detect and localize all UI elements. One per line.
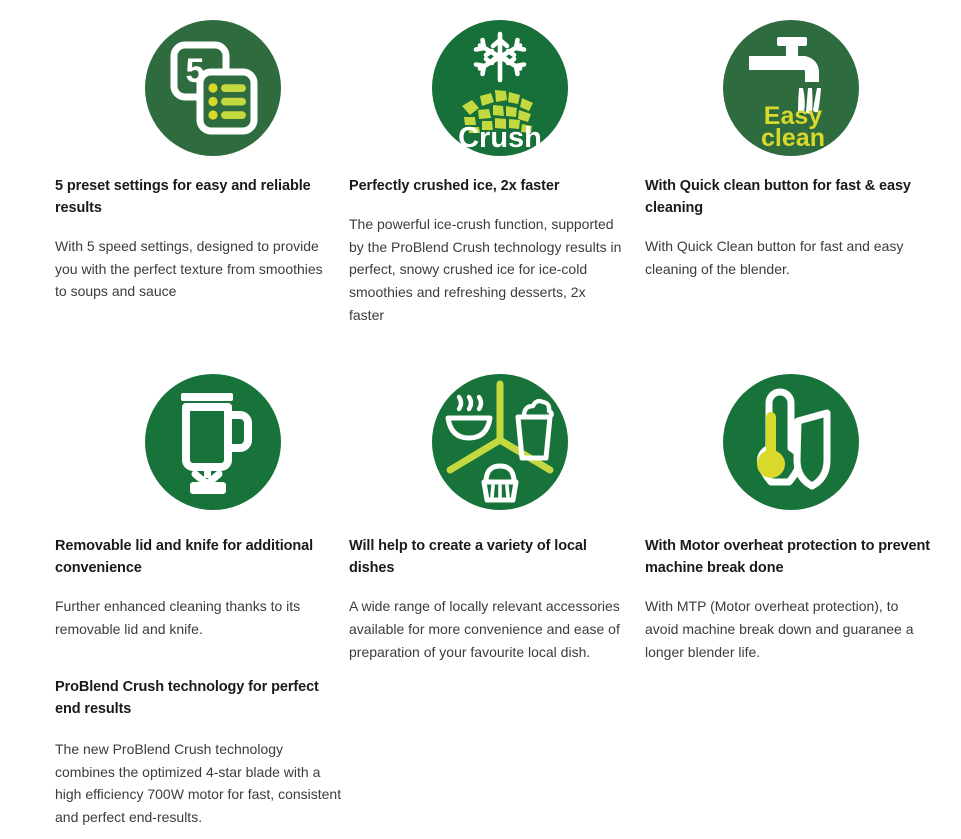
feature-title-5: Will help to create a variety of local d…	[349, 535, 623, 579]
crush-badge-label: Crush	[458, 122, 542, 154]
local-dishes-variety-icon	[432, 374, 568, 510]
feature-body-7: The new ProBlend Crush technology combin…	[55, 738, 345, 829]
feature-text-4: Removable lid and knife for additional c…	[55, 535, 349, 663]
feature-text-2: Perfectly crushed ice, 2x faster The pow…	[349, 175, 645, 326]
feature-title-4: Removable lid and knife for additional c…	[55, 535, 327, 579]
feature-cell-2: Crush	[349, 0, 645, 175]
five-preset-settings-icon: 5	[145, 20, 281, 156]
icon-wrap-3: Easy clean	[645, 0, 933, 175]
easy-clean-faucet-icon: Easy clean	[723, 20, 859, 156]
feature-grid: 5	[0, 0, 961, 663]
feature-title-6: With Motor overheat protection to preven…	[645, 535, 933, 579]
icon-wrap-2: Crush	[349, 0, 623, 175]
feature-body-2: The powerful ice-crush function, support…	[349, 213, 623, 326]
feature-title-7: ProBlend Crush technology for perfect en…	[55, 676, 345, 720]
icon-wrap-4	[55, 354, 327, 529]
feature-body-5: A wide range of locally relevant accesso…	[349, 595, 623, 663]
crush-ice-icon: Crush	[432, 20, 568, 156]
feature-cell-1: 5	[55, 0, 349, 175]
feature-body-6: With MTP (Motor overheat protection), to…	[645, 595, 933, 663]
feature-text-3: With Quick clean button for fast & easy …	[645, 175, 955, 326]
icon-wrap-5	[349, 354, 623, 529]
feature-cell-5	[349, 326, 645, 529]
feature-cell-4	[55, 326, 349, 529]
feature-text-5: Will help to create a variety of local d…	[349, 535, 645, 663]
feature-grid-page: 5	[0, 0, 961, 839]
feature-body-3: With Quick Clean button for fast and eas…	[645, 235, 933, 280]
icon-wrap-6	[645, 354, 933, 529]
feature-title-3: With Quick clean button for fast & easy …	[645, 175, 933, 219]
feature-text-7: ProBlend Crush technology for perfect en…	[55, 676, 345, 829]
feature-cell-3: Easy clean	[645, 0, 955, 175]
feature-title-2: Perfectly crushed ice, 2x faster	[349, 175, 623, 197]
removable-lid-blender-jug-icon	[145, 374, 281, 510]
motor-overheat-protection-icon	[723, 374, 859, 510]
icon-wrap-1: 5	[55, 0, 327, 175]
clean-badge-label-line2: clean	[761, 124, 825, 152]
feature-title-1: 5 preset settings for easy and reliable …	[55, 175, 327, 219]
feature-body-4: Further enhanced cleaning thanks to its …	[55, 595, 327, 640]
feature-cell-6	[645, 326, 955, 529]
feature-text-1: 5 preset settings for easy and reliable …	[55, 175, 349, 326]
feature-text-6: With Motor overheat protection to preven…	[645, 535, 955, 663]
feature-body-1: With 5 speed settings, designed to provi…	[55, 235, 327, 303]
